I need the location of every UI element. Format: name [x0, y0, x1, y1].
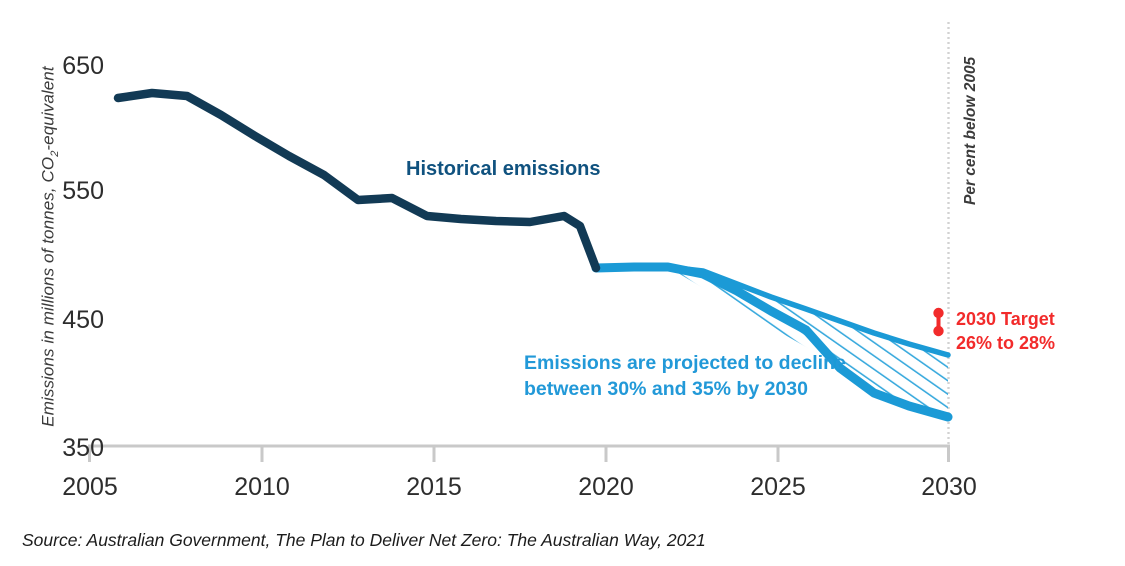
- x-tick-label-2020: 2020: [546, 473, 666, 502]
- y-tick-label-450: 450: [46, 306, 104, 335]
- x-tick-label-2015: 2015: [374, 473, 494, 502]
- projection-annotation: Emissions are projected to declinebetwee…: [524, 350, 846, 403]
- target-annotation-line1: 2030 Target: [956, 309, 1055, 329]
- y-tick-label-550: 550: [46, 177, 104, 206]
- target-marker-bottom-dot: [933, 326, 943, 336]
- source-caption: Source: Australian Government, The Plan …: [22, 530, 706, 550]
- x-tick-label-2025: 2025: [718, 473, 838, 502]
- y-tick-label-350: 350: [46, 434, 104, 463]
- x-tick-label-2005: 2005: [30, 473, 150, 502]
- right-axis-label: Per cent below 2005: [962, 26, 980, 236]
- target-marker-top-dot: [933, 308, 943, 318]
- y-axis-title-subscript: 2: [49, 151, 61, 157]
- x-tick-label-2010: 2010: [202, 473, 322, 502]
- y-tick-label-650: 650: [46, 52, 104, 81]
- projection-annotation-line1: Emissions are projected to decline: [524, 352, 846, 374]
- target-annotation-line2: 26% to 28%: [956, 333, 1055, 353]
- historical-emissions-label: Historical emissions: [406, 158, 601, 181]
- projection-annotation-line2: between 30% and 35% by 2030: [524, 378, 808, 400]
- y-axis-title: Emissions in millions of tonnes, CO2-equ…: [38, 37, 61, 457]
- emissions-projection-chart: Emissions in millions of tonnes, CO2-equ…: [0, 0, 1125, 566]
- x-tick-label-2030: 2030: [889, 473, 1009, 502]
- target-annotation: 2030 Target26% to 28%: [956, 307, 1055, 356]
